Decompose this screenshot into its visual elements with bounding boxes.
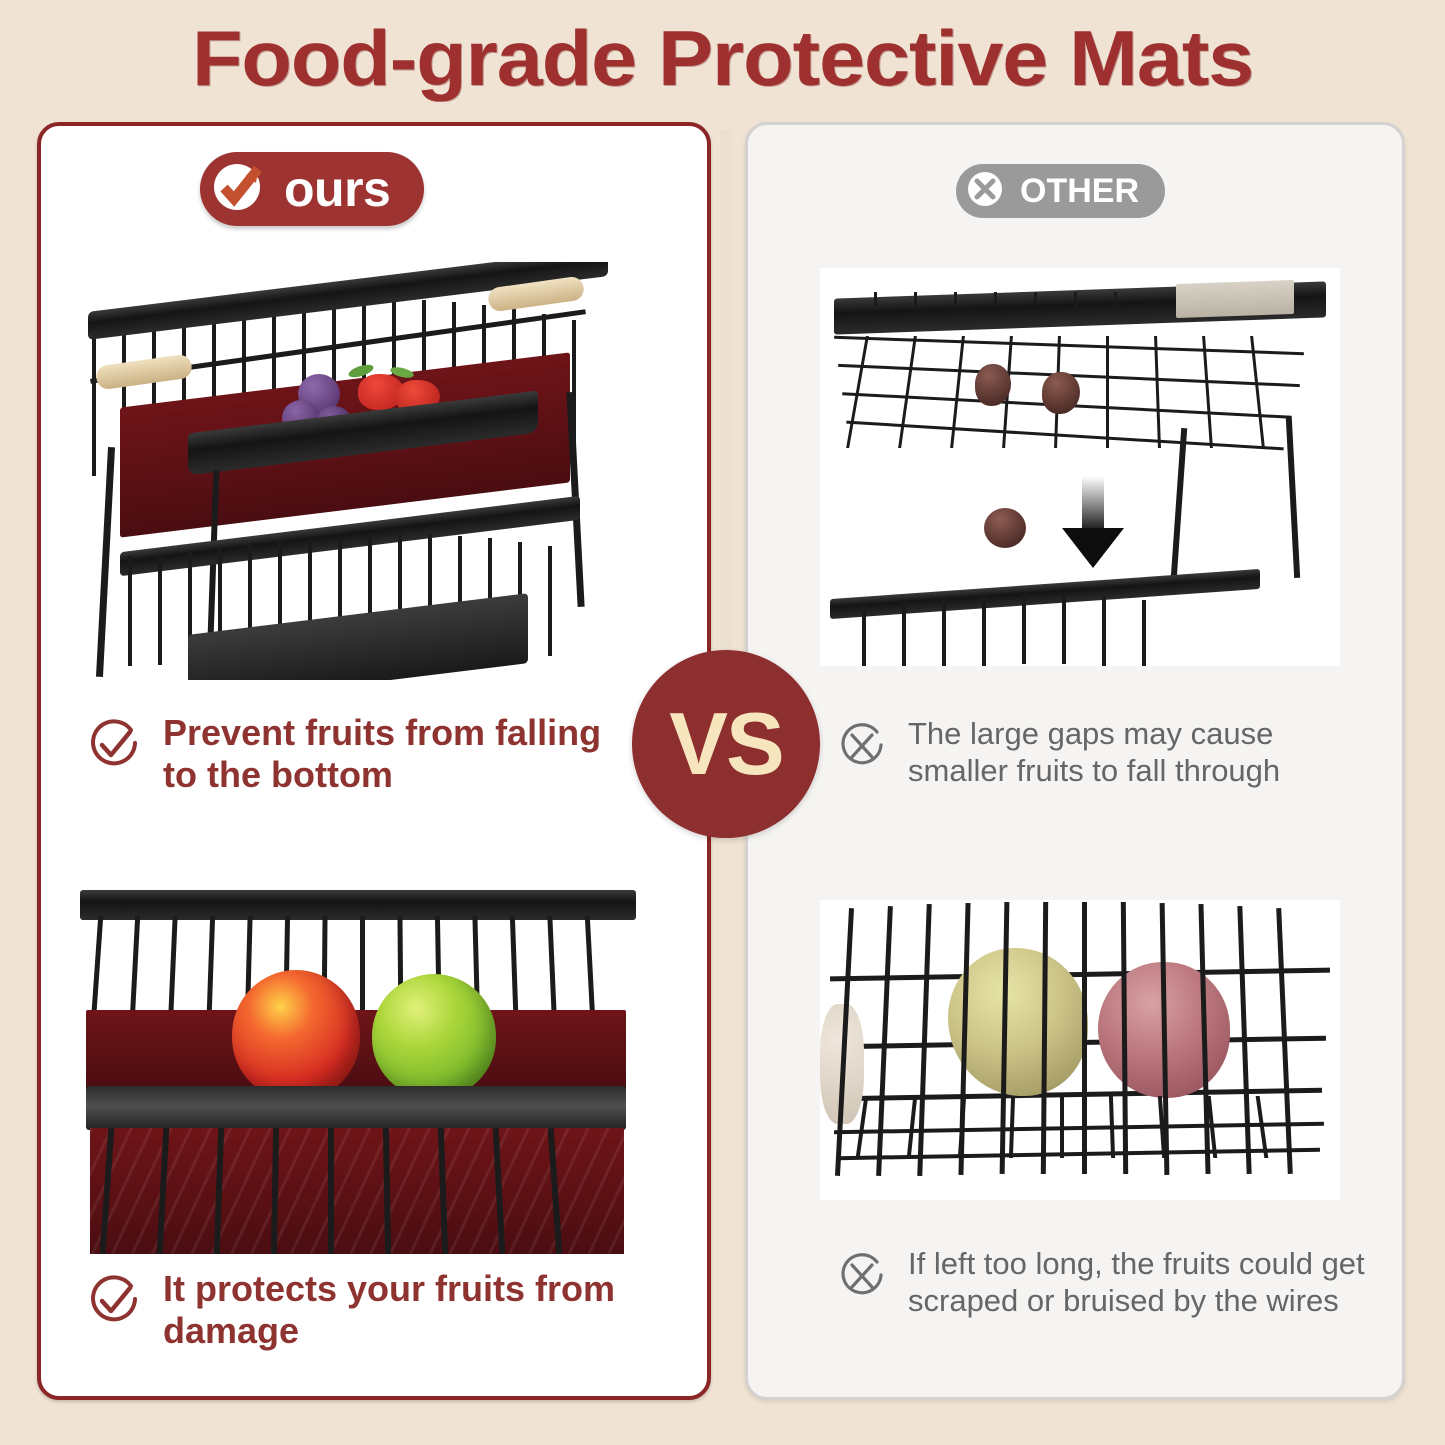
- other-caption-1-text: The large gaps may cause smaller fruits …: [908, 716, 1366, 789]
- ours-badge: ours: [200, 152, 424, 226]
- ours-badge-label: ours: [284, 164, 390, 214]
- ours-caption-2-text: It protects your fruits from damage: [163, 1268, 645, 1353]
- ours-caption-1: Prevent fruits from falling to the botto…: [85, 712, 645, 797]
- other-badge-label: OTHER: [1020, 174, 1139, 208]
- check-circle-icon: [208, 156, 270, 223]
- other-photo-bruised: [820, 900, 1340, 1200]
- ours-caption-1-text: Prevent fruits from falling to the botto…: [163, 712, 645, 797]
- other-caption-2-text: If left too long, the fruits could get s…: [908, 1246, 1366, 1319]
- page-header: Food-grade Protective Mats: [0, 8, 1445, 108]
- vs-divider-line: [720, 130, 732, 730]
- ours-photo-basket-with-mat: [60, 262, 640, 680]
- ours-photo-apples-on-mat: [62, 882, 648, 1258]
- x-circle-outline-icon: [836, 720, 888, 777]
- other-badge: OTHER: [956, 164, 1165, 218]
- other-caption-1: The large gaps may cause smaller fruits …: [836, 716, 1366, 789]
- page-title: Food-grade Protective Mats: [192, 13, 1253, 104]
- down-arrow-icon: [1082, 476, 1104, 532]
- vs-label: VS: [669, 700, 782, 788]
- vs-badge: VS: [632, 650, 820, 838]
- check-circle-outline-icon: [85, 716, 143, 779]
- x-circle-icon: [962, 166, 1008, 217]
- other-photo-gaps: [820, 268, 1340, 666]
- other-caption-2: If left too long, the fruits could get s…: [836, 1246, 1366, 1319]
- ours-caption-2: It protects your fruits from damage: [85, 1268, 645, 1353]
- check-circle-outline-icon: [85, 1272, 143, 1335]
- x-circle-outline-icon: [836, 1250, 888, 1307]
